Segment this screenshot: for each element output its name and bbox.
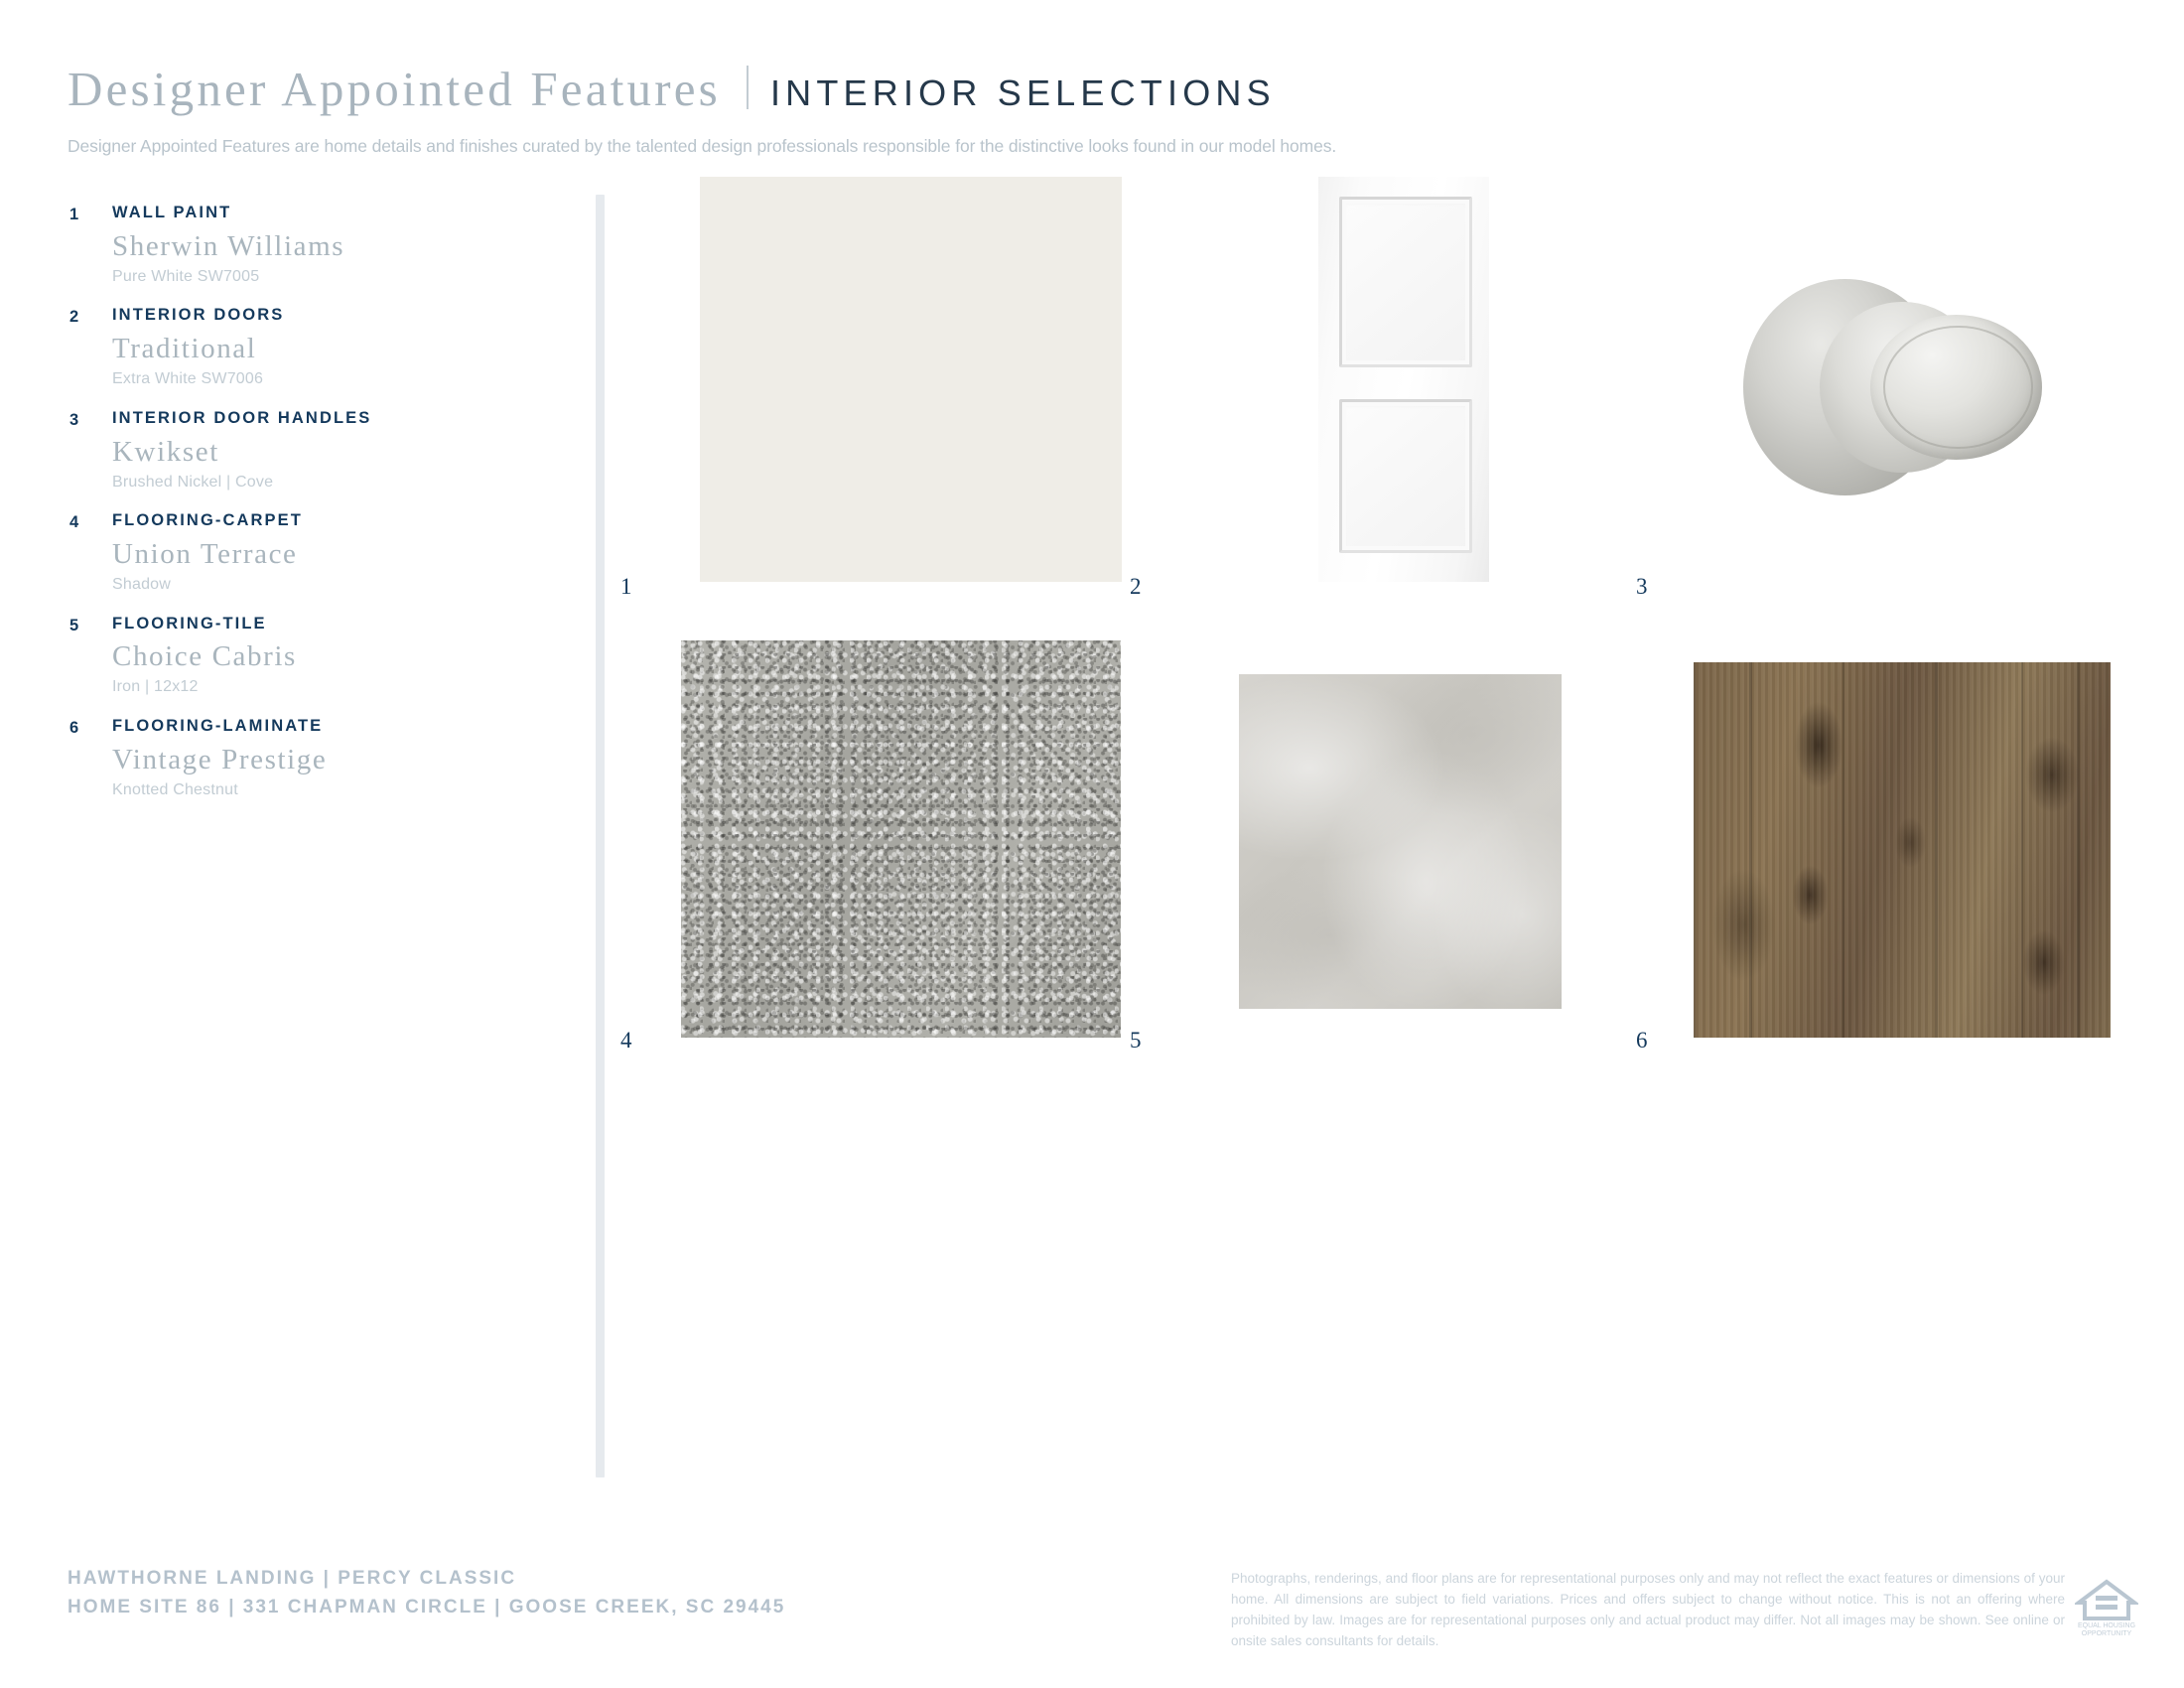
swatch-cell-5: 5	[1152, 640, 1628, 1057]
feature-brand: Kwikset	[112, 438, 536, 467]
page-title-serif: Designer Appointed Features	[68, 65, 721, 113]
selection-sheet-page: Designer Appointed Features INTERIOR SEL…	[0, 0, 2184, 1688]
feature-category: WALL PAINT	[112, 204, 536, 223]
wall-paint-swatch[interactable]	[700, 177, 1122, 582]
feature-brand: Sherwin Williams	[112, 232, 536, 261]
swatch-number-3: 3	[1636, 574, 1648, 600]
feature-brand: Traditional	[112, 335, 536, 363]
feature-number: 1	[69, 206, 95, 224]
swatch-cell-1: 1	[645, 177, 1122, 604]
feature-brand: Choice Cabris	[112, 642, 536, 671]
swatch-cell-6: 6	[1658, 640, 2134, 1057]
footer-address-line: HOME SITE 86 | 331 CHAPMAN CIRCLE | GOOS…	[68, 1594, 785, 1622]
svg-text:OPPORTUNITY: OPPORTUNITY	[2082, 1630, 2132, 1637]
swatch-number-2: 2	[1130, 574, 1142, 600]
tile-texture-fill	[1239, 674, 1562, 1009]
vertical-divider	[596, 195, 605, 1477]
page-title: Designer Appointed Features INTERIOR SEL…	[68, 62, 1336, 113]
list-item[interactable]: 1 WALL PAINT Sherwin Williams Pure White…	[69, 204, 536, 285]
feature-detail: Extra White SW7006	[112, 370, 536, 388]
list-item[interactable]: 2 INTERIOR DOORS Traditional Extra White…	[69, 306, 536, 387]
feature-number: 3	[69, 411, 95, 430]
feature-category: INTERIOR DOOR HANDLES	[112, 409, 536, 429]
feature-brand: Union Terrace	[112, 540, 536, 569]
title-separator-pipe	[747, 66, 749, 109]
feature-detail: Knotted Chestnut	[112, 781, 536, 799]
page-subtitle: Designer Appointed Features are home det…	[68, 136, 1336, 157]
feature-detail: Brushed Nickel | Cove	[112, 474, 536, 492]
carpet-texture-fill	[681, 640, 1121, 1038]
footer-community-info: HAWTHORNE LANDING | PERCY CLASSIC HOME S…	[68, 1565, 785, 1621]
page-title-section: INTERIOR SELECTIONS	[770, 75, 1276, 111]
feature-category: FLOORING-LAMINATE	[112, 717, 536, 737]
swatch-cell-4: 4	[645, 640, 1122, 1057]
feature-number: 2	[69, 308, 95, 327]
feature-number: 6	[69, 719, 95, 738]
door-knob	[1737, 258, 2055, 516]
swatch-number-1: 1	[620, 574, 632, 600]
feature-brand: Vintage Prestige	[112, 746, 536, 774]
list-item[interactable]: 4 FLOORING-CARPET Union Terrace Shadow	[69, 511, 536, 593]
tile-swatch[interactable]	[1239, 674, 1562, 1009]
feature-category: FLOORING-CARPET	[112, 511, 536, 531]
feature-number: 5	[69, 617, 95, 635]
feature-detail: Iron | 12x12	[112, 678, 536, 696]
swatch-number-5: 5	[1130, 1028, 1142, 1054]
door-panel-bottom	[1339, 399, 1472, 553]
feature-list: 1 WALL PAINT Sherwin Williams Pure White…	[69, 204, 536, 819]
swatch-cell-2: 2	[1152, 177, 1628, 604]
feature-detail: Shadow	[112, 576, 536, 594]
equal-housing-opportunity-icon: EQUAL HOUSING OPPORTUNITY	[2075, 1575, 2138, 1638]
swatch-cell-3: 3	[1658, 177, 2134, 604]
list-item[interactable]: 3 INTERIOR DOOR HANDLES Kwikset Brushed …	[69, 409, 536, 491]
feature-category: FLOORING-TILE	[112, 615, 536, 634]
footer-community-line: HAWTHORNE LANDING | PERCY CLASSIC	[68, 1565, 785, 1594]
interior-door-image[interactable]	[1318, 177, 1489, 582]
wood-texture-fill	[1694, 662, 2111, 1038]
knob-ring	[1883, 326, 2032, 450]
page-header: Designer Appointed Features INTERIOR SEL…	[68, 62, 1336, 157]
footer-disclaimer: Photographs, renderings, and floor plans…	[1231, 1569, 2065, 1652]
carpet-swatch[interactable]	[681, 640, 1121, 1038]
door-panel-top	[1339, 197, 1472, 366]
laminate-swatch[interactable]	[1694, 662, 2111, 1038]
feature-category: INTERIOR DOORS	[112, 306, 536, 326]
list-item[interactable]: 5 FLOORING-TILE Choice Cabris Iron | 12x…	[69, 615, 536, 696]
swatch-number-6: 6	[1636, 1028, 1648, 1054]
feature-detail: Pure White SW7005	[112, 268, 536, 286]
door-slab	[1318, 177, 1489, 582]
swatch-number-4: 4	[620, 1028, 632, 1054]
door-handle-image[interactable]	[1737, 258, 2055, 516]
paint-chip-fill	[700, 177, 1122, 582]
svg-text:EQUAL HOUSING: EQUAL HOUSING	[2078, 1622, 2135, 1629]
feature-number: 4	[69, 513, 95, 532]
list-item[interactable]: 6 FLOORING-LAMINATE Vintage Prestige Kno…	[69, 717, 536, 798]
